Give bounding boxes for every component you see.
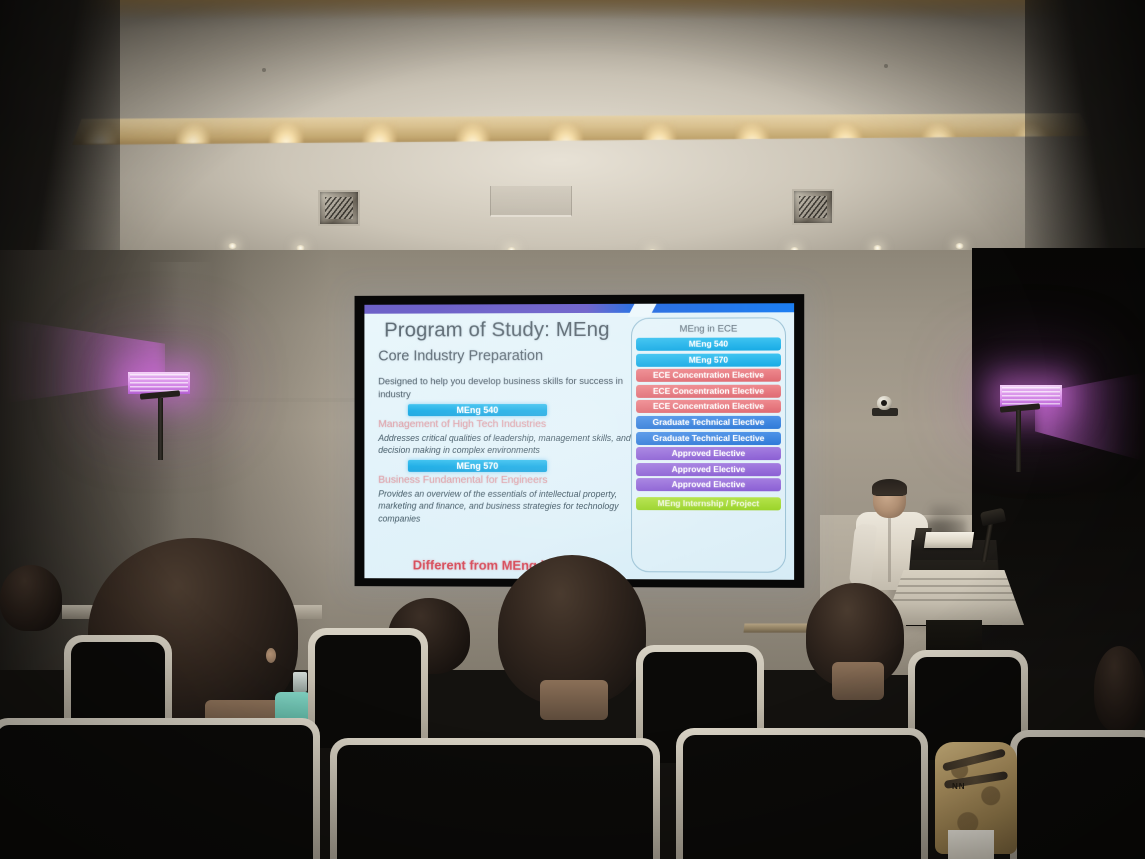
presenter-hair bbox=[872, 479, 907, 496]
cove-lamp bbox=[642, 122, 676, 144]
course-bar: ECE Concentration Elective bbox=[636, 400, 781, 413]
podium-base bbox=[926, 620, 982, 654]
cove-lamp-group bbox=[68, 113, 1094, 145]
glasses-icon bbox=[876, 495, 903, 501]
slide-body-column: Designed to help you develop business sk… bbox=[378, 374, 635, 525]
presentation-slide: Program of Study: MEng Core Industry Pre… bbox=[364, 303, 794, 580]
smartphone bbox=[293, 672, 307, 692]
camera-lens-icon bbox=[881, 400, 887, 406]
projection-screen[interactable]: Program of Study: MEng Core Industry Pre… bbox=[355, 294, 805, 588]
cove-lamp bbox=[828, 122, 863, 144]
ceiling-warm-edge bbox=[0, 0, 1145, 20]
course-bar: Approved Elective bbox=[636, 447, 781, 460]
led-panel-left[interactable] bbox=[128, 372, 190, 394]
seat-cushion bbox=[0, 725, 313, 859]
backpack-brand-label: NN bbox=[952, 782, 966, 791]
ceiling-access-hatch bbox=[490, 186, 572, 217]
meng-track-callout: MEng in ECE MEng 540 MEng 570 ECE Concen… bbox=[631, 317, 786, 572]
cove-lamp bbox=[735, 122, 770, 144]
ceiling-fixture-speck bbox=[262, 68, 266, 72]
light-stand-left bbox=[158, 398, 163, 460]
cove-lamp bbox=[920, 122, 956, 144]
slide-subtitle: Core Industry Preparation bbox=[378, 348, 543, 364]
recessed-downlight bbox=[228, 243, 237, 249]
seat-back bbox=[308, 628, 428, 748]
course-bar: MEng 570 bbox=[636, 353, 781, 366]
audience-neck bbox=[832, 662, 884, 700]
white-paper bbox=[948, 830, 994, 859]
seat-back bbox=[0, 718, 320, 859]
audience-neck bbox=[540, 680, 608, 720]
shirt-placket bbox=[888, 516, 891, 582]
seat-back bbox=[1010, 730, 1145, 859]
recessed-downlight bbox=[955, 243, 964, 249]
slide-block-plain: Designed to help you develop business sk… bbox=[378, 374, 635, 401]
hvac-vent bbox=[792, 189, 834, 225]
cove-lamp bbox=[362, 122, 397, 144]
slide-block-italic: Addresses critical qualities of leadersh… bbox=[378, 432, 635, 457]
audience-ear bbox=[266, 648, 276, 663]
slide-top-band bbox=[364, 303, 794, 314]
slide-block-heading: Management of High Tech Industries bbox=[378, 418, 635, 432]
course-bar: Approved Elective bbox=[636, 478, 781, 491]
audience-head bbox=[1094, 646, 1145, 732]
seat-cushion bbox=[315, 635, 421, 748]
light-stand-right bbox=[1016, 410, 1021, 472]
laptop bbox=[924, 532, 974, 548]
slide-course-chip-540: MEng 540 bbox=[408, 404, 547, 416]
slide-block-italic: Provides an overview of the essentials o… bbox=[378, 487, 635, 525]
course-bar: ECE Concentration Elective bbox=[636, 369, 781, 382]
callout-bar-list: MEng 540 MEng 570 ECE Concentration Elec… bbox=[632, 337, 785, 510]
cove-lamp bbox=[549, 122, 583, 144]
cove-lamp bbox=[456, 122, 491, 144]
callout-title: MEng in ECE bbox=[632, 323, 785, 335]
course-bar: ECE Concentration Elective bbox=[636, 384, 781, 397]
seat-cushion bbox=[1017, 737, 1145, 859]
cove-light-strip bbox=[68, 113, 1094, 145]
seat-back bbox=[676, 728, 928, 859]
course-bar: Approved Elective bbox=[636, 463, 781, 476]
course-bar: MEng 540 bbox=[636, 337, 781, 350]
podium-side-wings bbox=[884, 570, 1024, 625]
course-bar: Graduate Technical Elective bbox=[636, 432, 781, 445]
cove-lamp bbox=[269, 122, 305, 144]
hvac-vent bbox=[318, 190, 360, 226]
slide-title: Program of Study: MEng bbox=[384, 318, 609, 343]
seat-cushion bbox=[683, 735, 921, 859]
seat-cushion bbox=[337, 745, 653, 859]
slide-block-heading: Business Fundamental for Engineers bbox=[378, 474, 635, 488]
internship-bar: MEng Internship / Project bbox=[636, 497, 781, 510]
lecture-hall-photo: Program of Study: MEng Core Industry Pre… bbox=[0, 0, 1145, 859]
slide-course-chip-570: MEng 570 bbox=[408, 460, 547, 472]
audience-head bbox=[0, 565, 62, 631]
course-bar: Graduate Technical Elective bbox=[636, 416, 781, 429]
seat-back bbox=[330, 738, 660, 859]
ceiling-fixture-speck bbox=[884, 64, 888, 68]
cove-lamp bbox=[176, 122, 212, 144]
